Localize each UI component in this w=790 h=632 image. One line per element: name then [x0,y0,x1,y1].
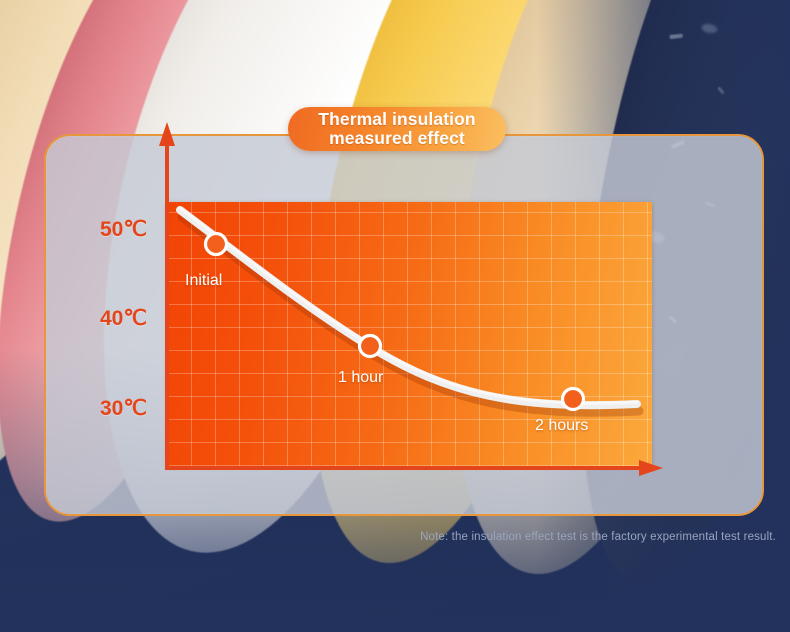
point-label-1-hour: 1 hour [338,369,383,387]
x-axis [167,460,663,476]
poster-stage: Thermal insulationmeasured effect [0,0,790,632]
curve-shadow [182,217,639,412]
y-tick-label-40: 40℃ [100,306,147,331]
data-point-initial [206,234,227,255]
title-badge: Thermal insulationmeasured effect [288,107,506,151]
point-label-initial: Initial [185,272,222,290]
footnote: Note: the insulation effect test is the … [0,531,776,543]
y-axis [159,122,175,470]
chart-vector-layer [137,160,737,520]
arrow-right-icon [639,460,663,476]
point-label-2-hours: 2 hours [535,417,588,435]
data-point-1-hour [360,336,381,357]
data-point-2-hours [563,389,584,410]
y-tick-label-30: 30℃ [100,396,147,421]
y-tick-label-50: 50℃ [100,217,147,242]
page-title: Thermal insulationmeasured effect [318,110,475,148]
